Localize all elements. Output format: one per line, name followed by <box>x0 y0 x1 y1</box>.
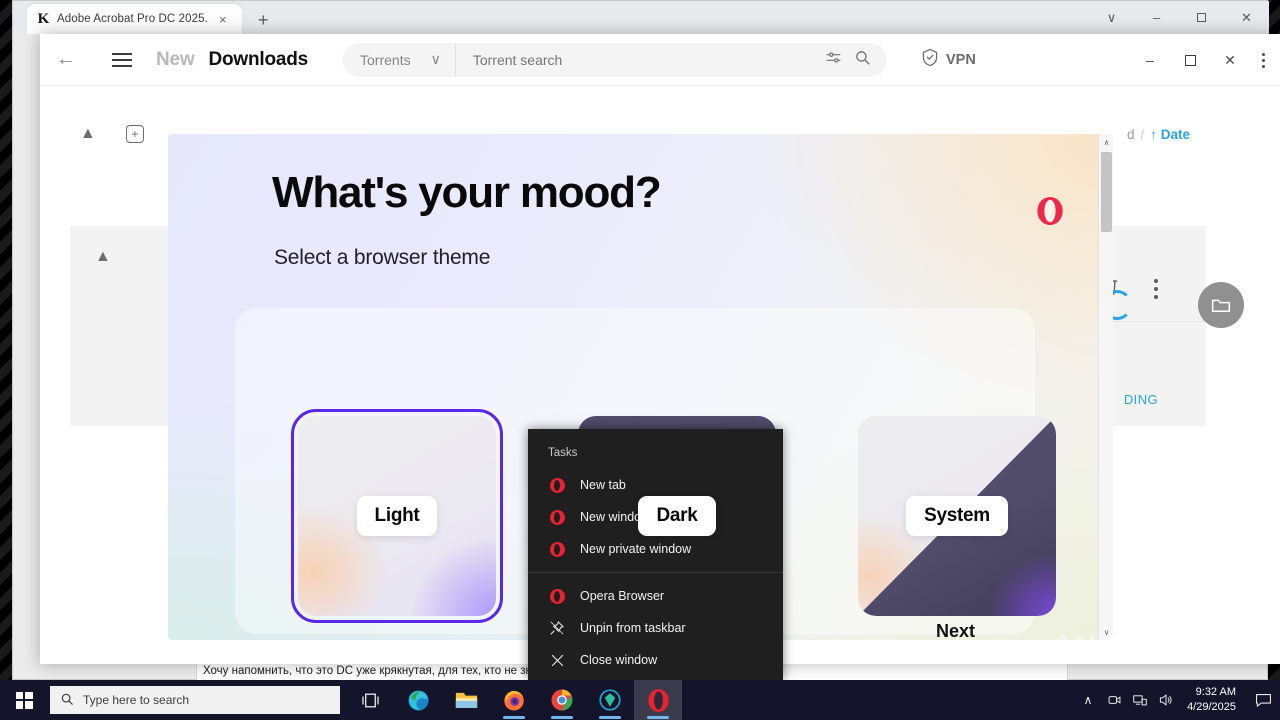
search-category-label: Torrents <box>360 52 411 68</box>
jumplist-divider <box>528 572 783 573</box>
minimize-icon[interactable]: – <box>1134 1 1179 34</box>
background-window-controls: ∨ – ✕ <box>1089 1 1269 34</box>
scrollbar-thumb[interactable] <box>1101 152 1112 232</box>
taskbar-apps <box>346 680 682 720</box>
unpin-icon <box>548 620 566 636</box>
add-download-icon[interactable]: + <box>126 125 144 143</box>
minimize-icon[interactable]: – <box>1130 34 1170 86</box>
open-folder-button[interactable] <box>1198 282 1244 328</box>
windows-logo-icon <box>16 692 33 709</box>
sort-date-button[interactable]: ↑ Date <box>1150 127 1190 142</box>
jumplist-item-new-private-window[interactable]: New private window <box>528 533 783 565</box>
taskbar-app-edge[interactable] <box>394 680 442 720</box>
filter-icon[interactable] <box>825 49 842 71</box>
back-button[interactable]: ← <box>46 40 86 80</box>
search-icon-group <box>825 49 887 71</box>
taskbar-search-box[interactable]: Type here to search <box>50 686 340 714</box>
close-icon <box>548 653 566 668</box>
jumplist-label: Unpin from taskbar <box>580 621 686 635</box>
theme-card-system[interactable]: System <box>858 416 1056 616</box>
taskbar-search-placeholder: Type here to search <box>83 693 189 707</box>
theme-label-system: System <box>906 496 1008 536</box>
sort-prefix: d <box>1127 127 1135 142</box>
tray-volume-icon[interactable] <box>1153 680 1179 720</box>
task-view-button[interactable] <box>346 680 394 720</box>
tab-close-icon[interactable]: × <box>219 13 227 26</box>
opera-logo-icon <box>1035 196 1065 226</box>
tray-network-icon[interactable] <box>1127 680 1153 720</box>
nav-downloads[interactable]: Downloads <box>208 49 308 71</box>
close-icon[interactable]: ✕ <box>1224 1 1269 34</box>
tab-favicon: K <box>36 11 51 28</box>
opera-icon <box>548 510 566 525</box>
restore-icon[interactable] <box>1179 1 1224 34</box>
sort-separator: / <box>1140 127 1144 142</box>
nav-new[interactable]: New <box>156 49 194 71</box>
vpn-button[interactable]: VPN <box>921 48 976 71</box>
modal-scrollbar[interactable]: ∧ ∨ <box>1098 134 1113 640</box>
downloads-sort: d / ↑ Date <box>1127 127 1190 142</box>
taskbar-app-file-explorer[interactable] <box>442 680 490 720</box>
theme-label-light: Light <box>357 496 438 536</box>
taskbar-app-firefox[interactable] <box>490 680 538 720</box>
tray-expand-icon[interactable]: ∧ <box>1075 680 1101 720</box>
scroll-up-icon[interactable]: ∧ <box>1099 134 1113 150</box>
sort-date-label: Date <box>1161 127 1190 142</box>
next-button[interactable]: Next <box>936 621 975 640</box>
opera-window-controls: – ✕ <box>1130 34 1250 86</box>
jumplist-item-opera-browser[interactable]: Opera Browser <box>528 580 783 612</box>
jumplist-label: Close window <box>580 653 657 667</box>
modal-subtitle: Select a browser theme <box>274 246 490 270</box>
close-icon[interactable]: ✕ <box>1210 34 1250 86</box>
background-browser-tab[interactable]: K Adobe Acrobat Pro DC 2025.001 × <box>27 4 242 34</box>
jumplist-header: Tasks <box>528 441 783 469</box>
background-tab-strip: K Adobe Acrobat Pro DC 2025.001 × + ∨ – … <box>13 1 1269 34</box>
jumplist-label: New private window <box>580 542 691 556</box>
modal-title: What's your mood? <box>272 168 661 218</box>
jumplist-label: Opera Browser <box>580 589 664 603</box>
jumplist-item-close-window[interactable]: Close window <box>528 644 783 676</box>
theme-label-dark: Dark <box>638 496 715 536</box>
search-icon <box>60 692 74 709</box>
theme-card-light[interactable]: Light <box>298 416 496 616</box>
chevron-down-icon[interactable]: ∨ <box>1089 1 1134 34</box>
opera-icon <box>548 478 566 493</box>
collapse-icon[interactable]: ▲ <box>80 125 96 143</box>
windows-taskbar: Type here to search <box>0 680 1280 720</box>
sort-arrow-icon: ↑ <box>1150 127 1157 142</box>
jumplist-item-unpin[interactable]: Unpin from taskbar <box>528 612 783 644</box>
search-category-dropdown[interactable]: Torrents ∨ <box>342 43 456 77</box>
opera-toolbar: ← New Downloads Torrents ∨ <box>40 34 1280 86</box>
maximize-icon[interactable] <box>1170 34 1210 86</box>
taskbar-app-chrome[interactable] <box>538 680 586 720</box>
shield-check-icon <box>921 48 939 71</box>
taskbar-app-teal[interactable] <box>586 680 634 720</box>
new-tab-button[interactable]: + <box>258 11 269 29</box>
tray-camera-icon[interactable] <box>1101 680 1127 720</box>
hamburger-icon <box>112 53 132 67</box>
torrent-search-bar: Torrents ∨ <box>342 43 887 77</box>
screen: K Adobe Acrobat Pro DC 2025.001 × + ∨ – … <box>0 0 1280 720</box>
taskbar-clock[interactable]: 9:32 AM 4/29/2025 <box>1179 685 1246 715</box>
opera-icon <box>548 542 566 557</box>
action-center-button[interactable] <box>1246 680 1280 720</box>
torrent-search-input[interactable] <box>456 52 825 68</box>
taskbar-app-opera[interactable] <box>634 680 682 720</box>
tab-title: Adobe Acrobat Pro DC 2025.001 <box>57 13 207 25</box>
system-tray: ∧ 9:32 AM 4/29/2025 <box>1075 680 1280 720</box>
download-status-badge: DING <box>1124 392 1158 407</box>
more-options-icon[interactable] <box>1154 279 1158 299</box>
jumplist-label: New tab <box>580 478 626 492</box>
chevron-down-icon: ∨ <box>431 51 441 68</box>
vpn-label: VPN <box>946 52 976 68</box>
menu-button[interactable] <box>102 40 142 80</box>
clock-time: 9:32 AM <box>1196 685 1236 700</box>
scroll-down-icon[interactable]: ∨ <box>1099 624 1113 640</box>
card-collapse-icon[interactable]: ▲ <box>95 248 111 266</box>
clock-date: 4/29/2025 <box>1187 700 1236 715</box>
opera-more-menu-button[interactable] <box>1250 34 1276 86</box>
opera-icon <box>548 589 566 604</box>
search-icon[interactable] <box>854 49 871 71</box>
taskbar-jumplist: Tasks New tab New window New private win… <box>528 429 783 680</box>
kebab-icon <box>1262 53 1265 68</box>
start-button[interactable] <box>0 680 48 720</box>
